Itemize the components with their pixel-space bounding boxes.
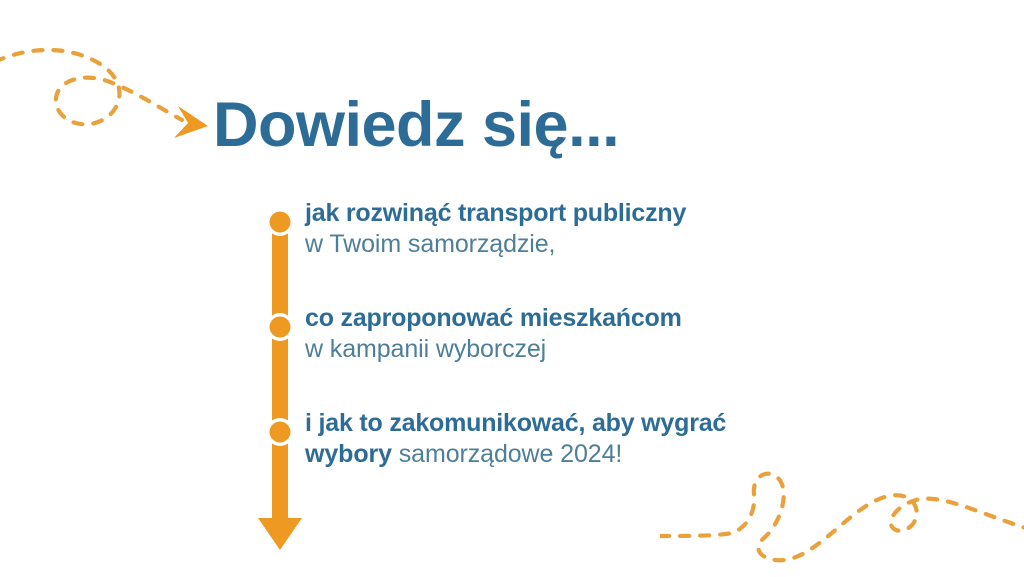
dashed-loop-arrow-top-left-icon [0, 28, 232, 158]
list-item-subline: w kampanii wyborczej [305, 334, 965, 365]
list-item-headline: co zaproponować mieszkańcom [305, 303, 965, 334]
dashed-wave-bottom-right-icon [660, 452, 1024, 577]
list-item-subline: wybory samorządowe 2024! [305, 439, 965, 470]
list-item: jak rozwinąć transport publiczny w Twoim… [305, 198, 965, 259]
slide-canvas: Dowiedz się... jak rozwinąć transport pu… [0, 0, 1024, 577]
list-item-subline: w Twoim samorządzie, [305, 229, 965, 260]
list-item-subline-strong: wybory [305, 440, 392, 468]
list-item-headline: i jak to zakomunikować, aby wygrać [305, 408, 965, 439]
list-item-subline-text: w kampanii wyborczej [305, 335, 546, 363]
arrow-shaft [272, 216, 288, 522]
arrow-head-down-icon [258, 518, 302, 550]
benefits-list: jak rozwinąć transport publiczny w Twoim… [305, 198, 965, 469]
vertical-orange-arrow [258, 206, 302, 554]
list-item: co zaproponować mieszkańcom w kampanii w… [305, 303, 965, 364]
bullet-dot-3 [270, 422, 291, 443]
bullet-dot-1 [270, 212, 291, 233]
bullet-dot-2 [270, 317, 291, 338]
list-item-subline-text: w Twoim samorządzie, [305, 230, 555, 258]
list-item: i jak to zakomunikować, aby wygrać wybor… [305, 408, 965, 469]
list-item-headline: jak rozwinąć transport publiczny [305, 198, 965, 229]
page-title: Dowiedz się... [213, 92, 619, 158]
list-item-subline-text: samorządowe 2024! [392, 440, 622, 468]
